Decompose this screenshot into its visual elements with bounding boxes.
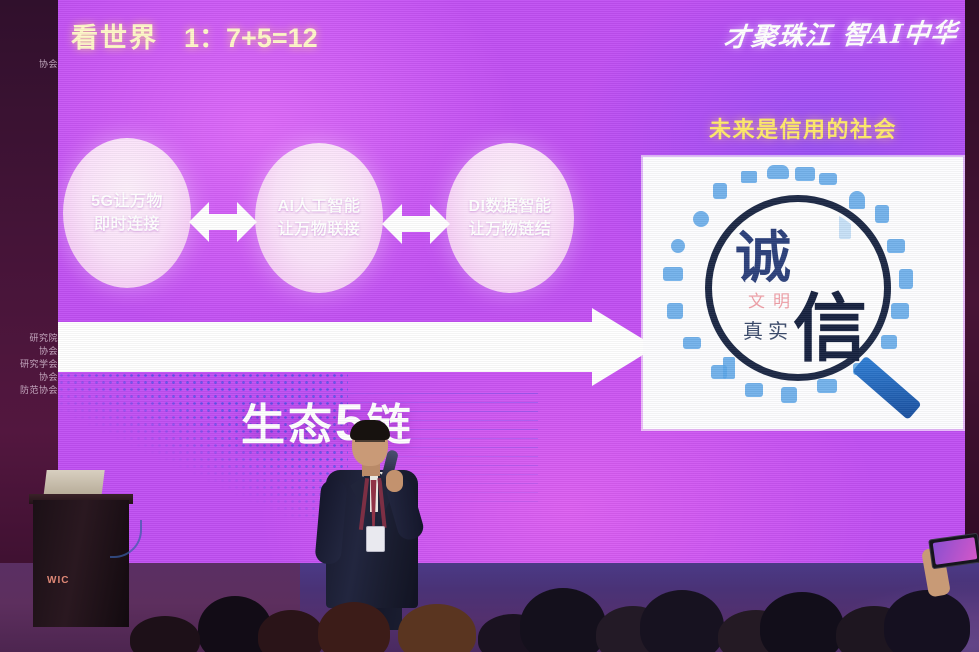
brand-slogan: 才聚珠江 智AI中华 — [719, 12, 963, 54]
slide-title-text: 看世界 — [71, 23, 158, 53]
speaker-hair — [350, 420, 390, 440]
right-wall-panel — [963, 0, 979, 600]
integrity-word-zhenshi: 真实 — [743, 315, 793, 344]
flow-node-5g-label: 5G让万物 即时连接 — [63, 190, 191, 236]
slide-title: 看世界1：7+5=12 — [71, 16, 318, 55]
audience-member — [318, 602, 390, 652]
flow-node-ai-label: AI人工智能 让万物联接 — [255, 195, 383, 241]
integrity-word-cheng: 诚 — [735, 213, 791, 294]
flow-node-ai-line1: AI人工智能 — [255, 195, 383, 218]
phone-screen — [933, 537, 978, 565]
sponsor-list-bottom: 研究院 协会 研究学会 协会 防范协会 — [0, 332, 58, 397]
right-arrow-icon — [58, 308, 656, 386]
flow-node-di: DI数据智能 让万物链结 — [446, 143, 574, 293]
flow-node-5g: 5G让万物 即时连接 — [63, 138, 191, 288]
flow-node-di-label: DI数据智能 让万物链结 — [446, 195, 574, 241]
audience-member — [398, 604, 476, 652]
flow-node-5g-line1: 5G让万物 — [63, 190, 191, 213]
flow-node-5g-line2: 即时连接 — [63, 213, 191, 236]
audience-member — [884, 590, 970, 652]
integrity-word-wenming: 文明 — [748, 287, 798, 312]
speaker-badge — [366, 526, 385, 552]
flow-node-ai: AI人工智能 让万物联接 — [255, 143, 383, 293]
audience-member — [520, 588, 606, 652]
flow-node-di-line2: 让万物链结 — [446, 218, 574, 241]
sponsor-list-top: 协会 — [0, 58, 58, 71]
audience-member — [640, 590, 724, 652]
speaker-glasses — [355, 440, 385, 448]
audience-member — [760, 592, 844, 652]
slide-title-equation: 1：7+5=12 — [184, 23, 318, 53]
integrity-graphic-panel: 诚 信 文明 真实 — [643, 157, 963, 429]
audience-member — [130, 616, 200, 652]
flow-node-di-line1: DI数据智能 — [446, 195, 574, 218]
audience-silhouettes — [0, 560, 979, 652]
integrity-word-xin: 信 — [793, 269, 867, 376]
conference-stage-photo: 协会 研究院 协会 研究学会 协会 防范协会 看世界1：7+5=12 才聚珠江 … — [0, 0, 979, 652]
smartphone-icon — [928, 533, 979, 570]
speaker-hand — [386, 470, 403, 492]
double-arrow-icon — [189, 196, 257, 248]
led-presentation-screen: 看世界1：7+5=12 才聚珠江 智AI中华 5G让万物 即时连接 AI人工智能… — [58, 0, 965, 565]
right-panel-heading: 未来是信用的社会 — [648, 112, 958, 144]
double-arrow-icon — [382, 198, 450, 250]
flow-node-ai-line2: 让万物联接 — [255, 218, 383, 241]
audience-member — [258, 610, 324, 652]
